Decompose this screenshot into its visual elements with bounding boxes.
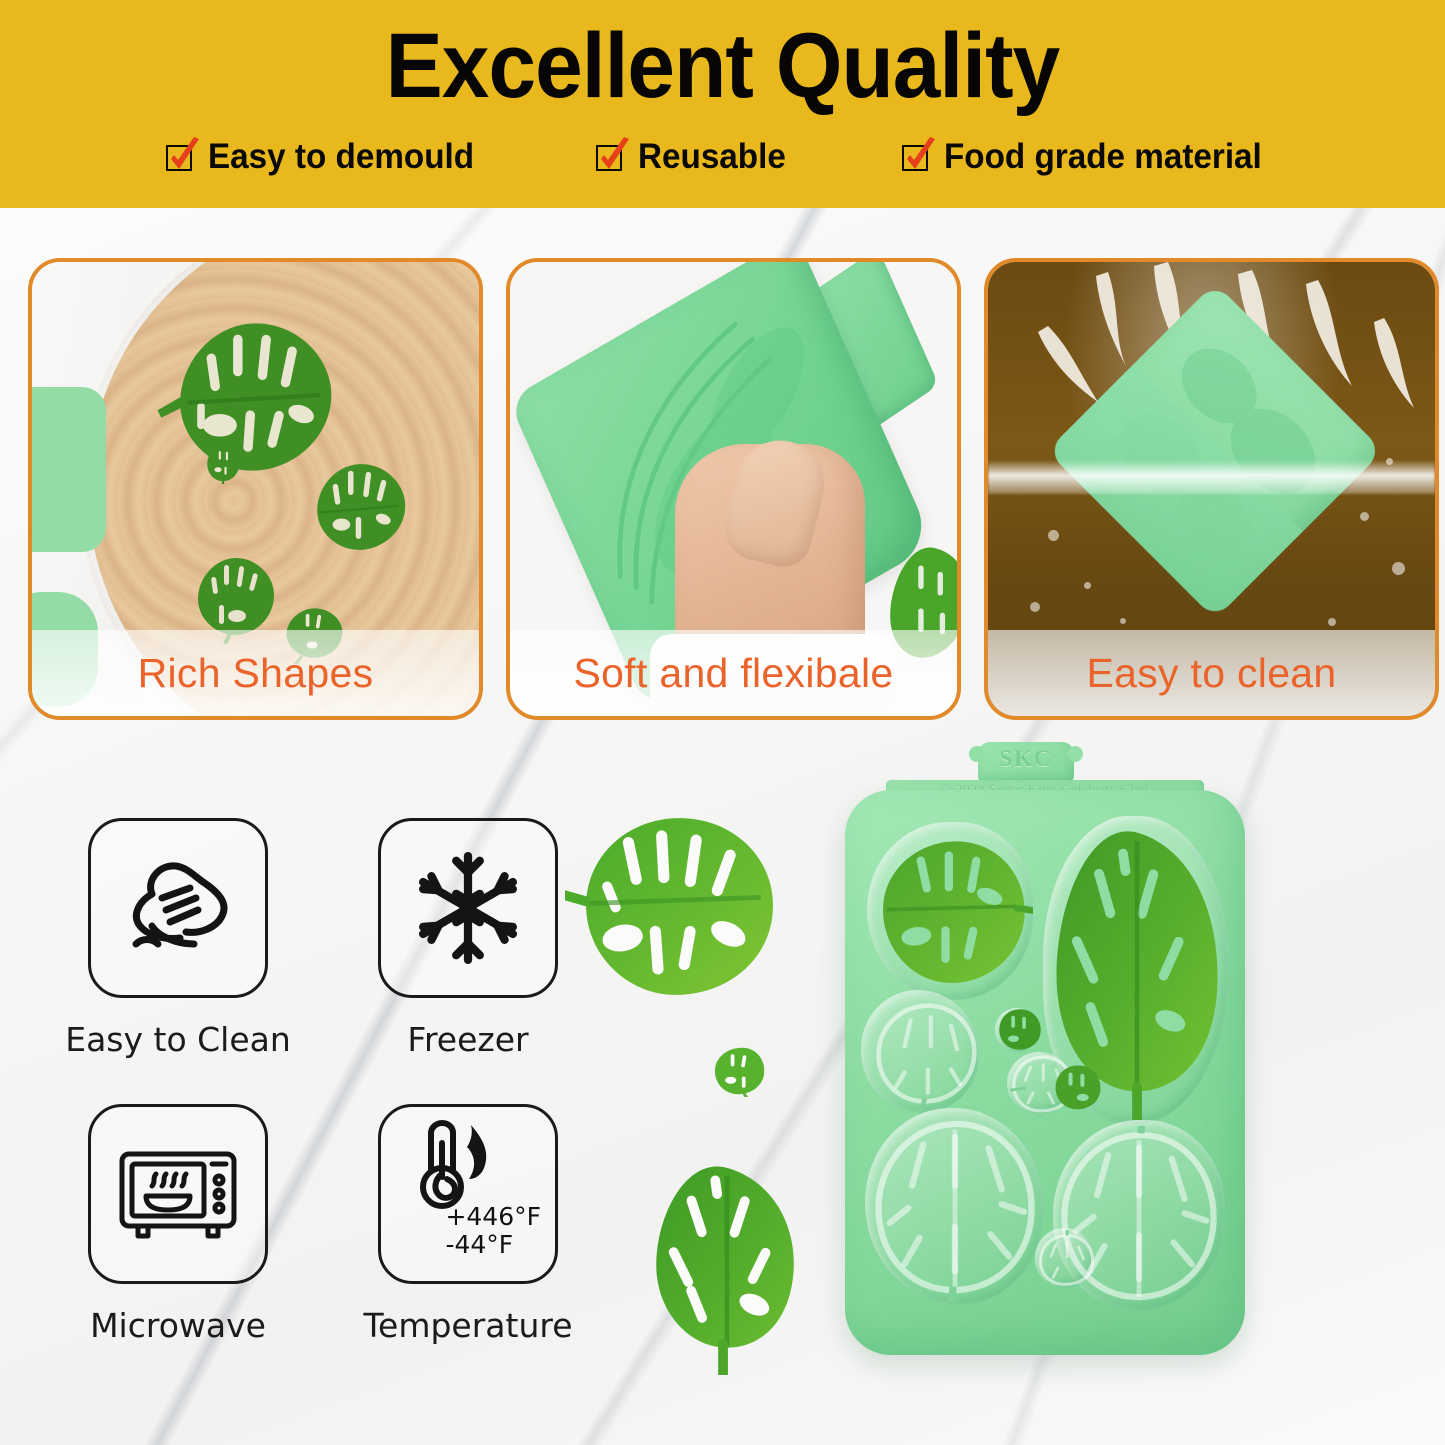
hand-wiping-cloth-icon <box>88 818 268 998</box>
microwave-oven-icon <box>88 1104 268 1284</box>
thermometer-flame-icon: +446°F -44°F <box>378 1104 558 1284</box>
mold-edge-shape <box>28 387 106 552</box>
feature-easy-to-clean: Easy to Clean <box>88 818 268 1059</box>
feature-temperature: +446°F -44°F Temperature <box>378 1104 558 1345</box>
check-label-reusable: Reusable <box>638 137 786 177</box>
monstera-leaf-icon <box>304 457 414 557</box>
leaf-relief <box>867 996 983 1114</box>
mold-brand-label: SKC <box>978 746 1074 772</box>
monstera-leaf-medium <box>640 1160 810 1375</box>
photo-panel-easy-to-clean: Easy to clean <box>984 258 1439 720</box>
check-label-demould: Easy to demould <box>208 137 474 177</box>
panel-caption-easy-to-clean: Easy to clean <box>988 630 1435 716</box>
feature-label-temperature: Temperature <box>348 1306 588 1345</box>
leaf-relief <box>871 1114 1039 1302</box>
snowflake-icon <box>378 818 558 998</box>
check-label-food-grade: Food grade material <box>944 137 1262 177</box>
leaf-relief-small <box>1037 1230 1095 1290</box>
feature-label-freezer: Freezer <box>348 1020 588 1059</box>
checkbox-checked-icon <box>902 143 931 172</box>
header-banner: Excellent Quality Easy to demould <box>0 0 1445 208</box>
temp-high-value: +446°F <box>445 1203 541 1231</box>
page-title: Excellent Quality <box>51 18 1395 115</box>
monstera-leaf-in-cavity <box>873 830 1033 996</box>
photo-panel-soft-flexible: Soft and flexibale <box>506 258 961 720</box>
feature-check-row: Easy to demould Reusable F <box>0 137 1445 177</box>
check-item-reusable: Reusable <box>596 137 794 177</box>
panel-caption-soft-flexible: Soft and flexibale <box>510 630 957 716</box>
monstera-leaf-icon <box>205 444 241 484</box>
panel-caption-rich-shapes: Rich Shapes <box>32 630 479 716</box>
feature-label-easy-to-clean: Easy to Clean <box>58 1020 298 1059</box>
feature-freezer: Freezer <box>378 818 558 1059</box>
check-item-food-grade: Food grade material <box>902 137 1279 177</box>
product-infographic: Excellent Quality Easy to demould <box>0 0 1445 1445</box>
mold-brand-crown: SKC <box>978 742 1074 782</box>
monstera-leaf-in-cavity <box>1051 1062 1105 1114</box>
checkbox-checked-icon <box>596 143 625 172</box>
monstera-leaf-in-cavity <box>995 1006 1045 1054</box>
photo-panel-rich-shapes: Rich Shapes <box>28 258 483 720</box>
feature-label-microwave: Microwave <box>58 1306 298 1345</box>
temperature-values: +446°F -44°F <box>445 1203 541 1259</box>
feature-microwave: Microwave <box>88 1104 268 1345</box>
check-item-demould: Easy to demould <box>166 137 488 177</box>
checkbox-checked-icon <box>166 143 195 172</box>
monstera-leaf-large <box>565 808 790 1003</box>
monstera-leaf-tiny <box>712 1045 768 1097</box>
temp-low-value: -44°F <box>445 1231 541 1259</box>
silicone-mold-tray <box>845 790 1245 1355</box>
